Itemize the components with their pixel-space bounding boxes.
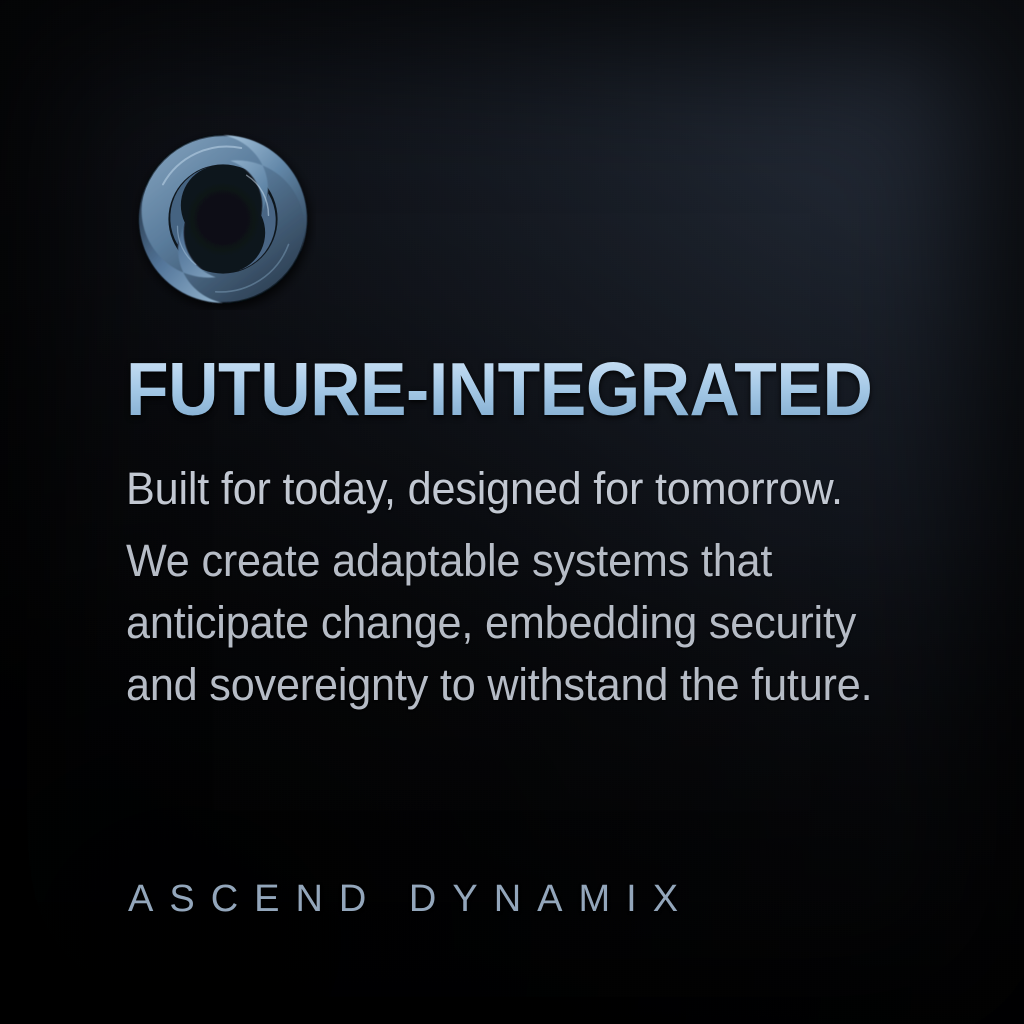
brand-logo bbox=[130, 128, 316, 310]
tagline-line: We create adaptable systems that bbox=[126, 530, 942, 592]
brand-name: ASCEND DYNAMIX bbox=[128, 878, 694, 921]
tagline-block: Built for today, designed for tomorrow. … bbox=[126, 458, 976, 716]
page-title: FUTURE-INTEGRATED bbox=[126, 352, 872, 427]
vortex-swirl-logo-icon bbox=[130, 128, 316, 310]
tagline-line: and sovereignty to withstand the future. bbox=[126, 654, 942, 716]
tagline-line: anticipate change, embedding security bbox=[126, 592, 942, 654]
tagline-line: Built for today, designed for tomorrow. bbox=[126, 458, 942, 520]
promo-card: FUTURE-INTEGRATED Built for today, desig… bbox=[0, 0, 1024, 1024]
